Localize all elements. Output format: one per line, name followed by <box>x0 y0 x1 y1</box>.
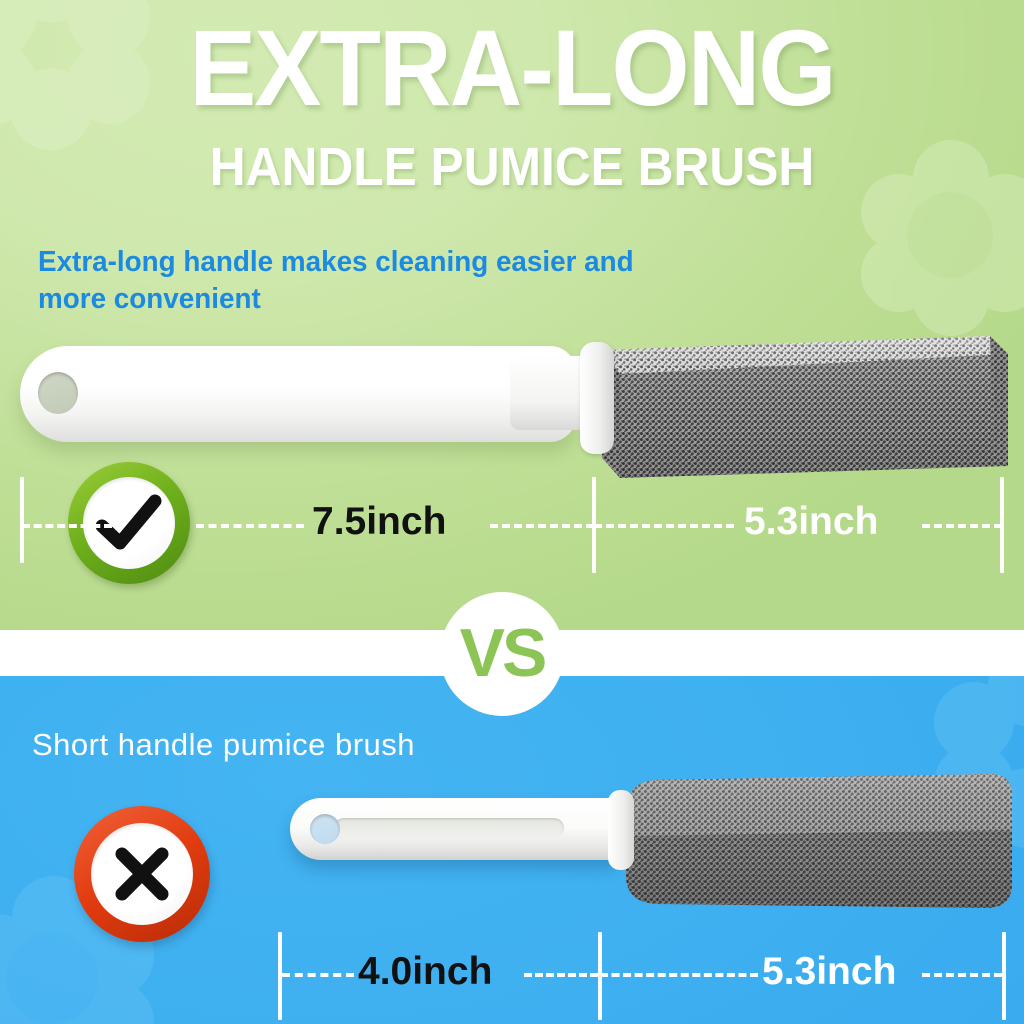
ruler-dash <box>524 973 598 977</box>
short-brush-label: Short handle pumice brush <box>32 727 415 763</box>
brush-collar <box>608 790 634 870</box>
status-badge-approved <box>68 462 190 584</box>
product-infographic: EXTRA-LONG HANDLE PUMICE BRUSH Extra-lon… <box>0 0 1024 1024</box>
ruler-dash <box>600 973 758 977</box>
check-icon <box>83 477 175 569</box>
short-handle-brush-image <box>290 770 1020 920</box>
brush-handle <box>20 346 576 442</box>
ruler-dash <box>490 524 594 528</box>
ruler-dash <box>922 973 1002 977</box>
measurement-label-handle-top: 7.5inch <box>312 500 446 544</box>
pumice-stone-block <box>598 330 1010 498</box>
page-subtitle: HANDLE PUMICE BRUSH <box>41 140 983 194</box>
measurement-label-handle-bottom: 4.0inch <box>358 950 492 994</box>
ruler-tick <box>20 477 24 563</box>
measurement-label-stone-top: 5.3inch <box>744 500 878 544</box>
top-comparison-panel: EXTRA-LONG HANDLE PUMICE BRUSH Extra-lon… <box>0 0 1024 630</box>
status-badge-rejected <box>74 806 210 942</box>
cross-icon <box>91 823 193 925</box>
tagline-text: Extra-long handle makes cleaning easier … <box>38 244 691 318</box>
ruler-dash <box>196 524 304 528</box>
ruler-tick <box>1002 932 1006 1020</box>
pumice-stone-block <box>620 772 1016 914</box>
ruler-dash <box>922 524 1002 528</box>
ruler-dash <box>594 524 734 528</box>
ruler-dash <box>22 524 112 528</box>
brush-collar <box>580 342 614 454</box>
vs-badge: VS <box>440 592 564 716</box>
hanging-hole <box>310 814 340 844</box>
vs-label: VS <box>460 614 545 692</box>
hanging-hole <box>38 372 78 414</box>
page-title: EXTRA-LONG <box>36 14 988 122</box>
handle-grip-slot <box>334 818 564 838</box>
measurement-label-stone-bottom: 5.3inch <box>762 950 896 994</box>
ruler-dash <box>282 973 354 977</box>
